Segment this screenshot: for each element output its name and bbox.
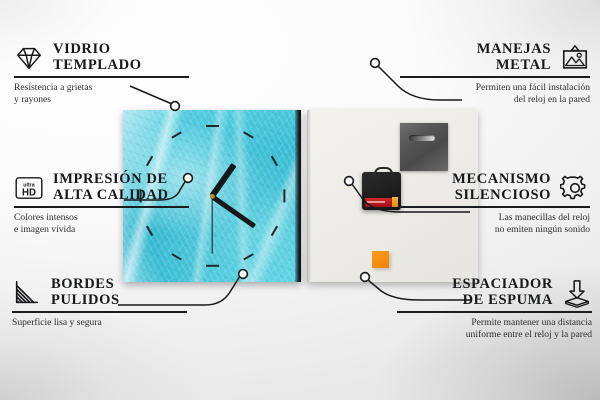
polished-edge-icon [12,278,42,308]
callout-title: VIDRIOTEMPLADO [53,42,142,73]
callout-rule [14,206,189,208]
svg-text:HD: HD [22,187,36,198]
callout-title: BORDESPULIDOS [51,277,120,308]
arrow-down-foam-icon [562,278,592,308]
second-hand [211,196,212,254]
wire-dot-manejas [371,59,380,68]
hanger-slot [409,135,435,141]
hanger-plate [400,123,448,171]
clock-mechanism [362,172,401,210]
back-panel-edge [307,110,311,282]
clock-center-hub [210,194,215,199]
callout-subtitle: Permiten una fácil instalacióndel reloj … [400,82,590,107]
callout-vidrio-templado[interactable]: VIDRIOTEMPLADO Resistencia a grietasy ra… [14,42,199,106]
callout-rule [397,311,592,313]
callout-mecanismo-silencioso[interactable]: MECANISMOSILENCIOSO Las manecillas del r… [400,172,590,236]
callout-title: ESPACIADORDE ESPUMA [452,277,553,308]
callout-title: IMPRESIÓN DEALTA CALIDAD [53,172,169,203]
callout-impresion-alta-calidad[interactable]: ultra HD IMPRESIÓN DEALTA CALIDAD Colore… [14,172,199,236]
mechanism-chip [392,197,398,207]
glass-edge [295,110,301,282]
gear-icon [560,173,590,203]
callout-subtitle: Colores intensose imagen vívida [14,212,199,237]
callout-espaciador-de-espuma[interactable]: ESPACIADORDE ESPUMA Permite mantener una… [397,277,592,341]
foam-spacer [372,251,389,268]
callout-rule [400,76,590,78]
infographic-canvas: VIDRIOTEMPLADO Resistencia a grietasy ra… [0,0,600,400]
ultra-hd-icon: ultra HD [14,173,44,203]
callout-rule [14,76,189,78]
callout-manejas-metal[interactable]: MANEJASMETAL Permiten una fácil instalac… [400,42,590,106]
clock-tick [206,125,219,127]
callout-bordes-pulidos[interactable]: BORDESPULIDOS Superficie lisa y segura [12,277,197,329]
clock-tick [283,189,285,202]
callout-subtitle: Resistencia a grietasy rayones [14,82,199,107]
callout-subtitle: Permite mantener una distanciauniforme e… [397,317,592,342]
callout-rule [12,311,187,313]
battery [365,198,392,207]
mechanism-loop [374,167,393,178]
callout-title: MECANISMOSILENCIOSO [452,172,551,203]
callout-title: MANEJASMETAL [477,42,551,73]
picture-frame-icon [560,43,590,73]
callout-subtitle: Superficie lisa y segura [12,317,197,329]
callout-rule [400,206,590,208]
callout-subtitle: Las manecillas del relojno emiten ningún… [400,212,590,237]
clock-tick [206,265,219,267]
diamond-icon [14,43,44,73]
